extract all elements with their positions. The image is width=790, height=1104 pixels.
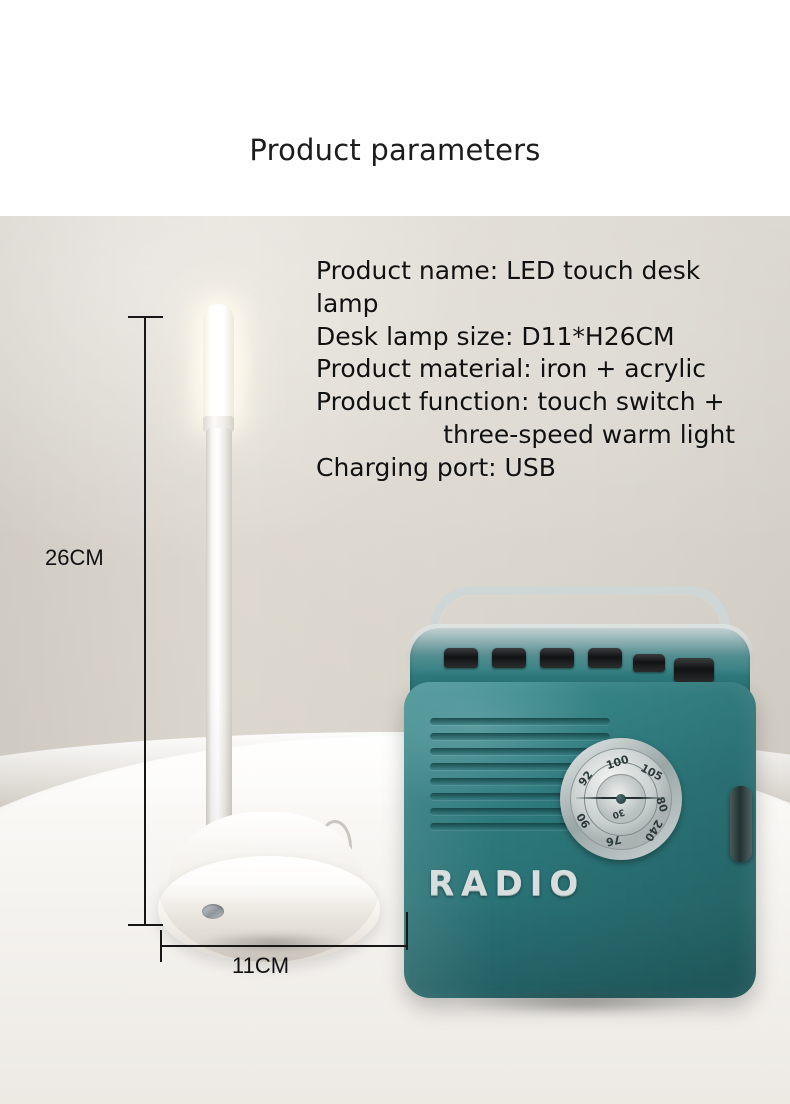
radio-key xyxy=(492,648,526,668)
height-dimension-label: 26CM xyxy=(45,545,104,571)
product-photo: RADIO 100 105 92 80 240 76 90 30 26CM 11… xyxy=(0,216,790,1104)
height-dimension-cap-bottom xyxy=(128,924,163,926)
product-parameters-page: Product parameters xyxy=(0,0,790,1104)
parameter-list: Product name: LED touch desk lamp Desk l… xyxy=(316,255,746,484)
parameter-line-charging-port: Charging port: USB xyxy=(316,452,746,485)
radio-wordmark: RADIO xyxy=(428,864,585,904)
radio-drop-shadow xyxy=(410,984,754,1020)
header-band: Product parameters xyxy=(0,0,790,216)
side-knob xyxy=(730,786,752,862)
lamp-pole-shading xyxy=(206,428,232,860)
radio-key xyxy=(633,654,665,672)
retro-radio: RADIO 100 105 92 80 240 76 90 30 xyxy=(400,586,770,1104)
parameter-line-product-name: Product name: LED touch desk lamp xyxy=(316,255,746,321)
parameter-line-function-continued: three-speed warm light xyxy=(316,419,746,452)
width-dimension-line xyxy=(160,945,408,947)
page-title: Product parameters xyxy=(0,133,790,167)
grille-slat xyxy=(430,718,610,725)
width-dimension-cap-left xyxy=(160,930,162,962)
touch-switch-button xyxy=(202,904,224,919)
parameter-line-function: Product function: touch switch + xyxy=(316,386,746,419)
radio-key xyxy=(674,658,714,682)
radio-key xyxy=(444,648,478,668)
parameter-line-size: Desk lamp size: D11*H26CM xyxy=(316,321,746,354)
width-dimension-cap-right xyxy=(406,912,408,950)
grille-slat xyxy=(430,733,610,740)
parameter-line-material: Product material: iron + acrylic xyxy=(316,353,746,386)
height-dimension-cap-top xyxy=(128,316,163,318)
width-dimension-label: 11CM xyxy=(232,953,289,979)
height-dimension-line xyxy=(144,316,146,926)
tuning-dial-hub xyxy=(616,794,626,804)
radio-key xyxy=(588,648,622,668)
radio-key xyxy=(540,648,574,668)
led-light-tube xyxy=(203,304,234,424)
